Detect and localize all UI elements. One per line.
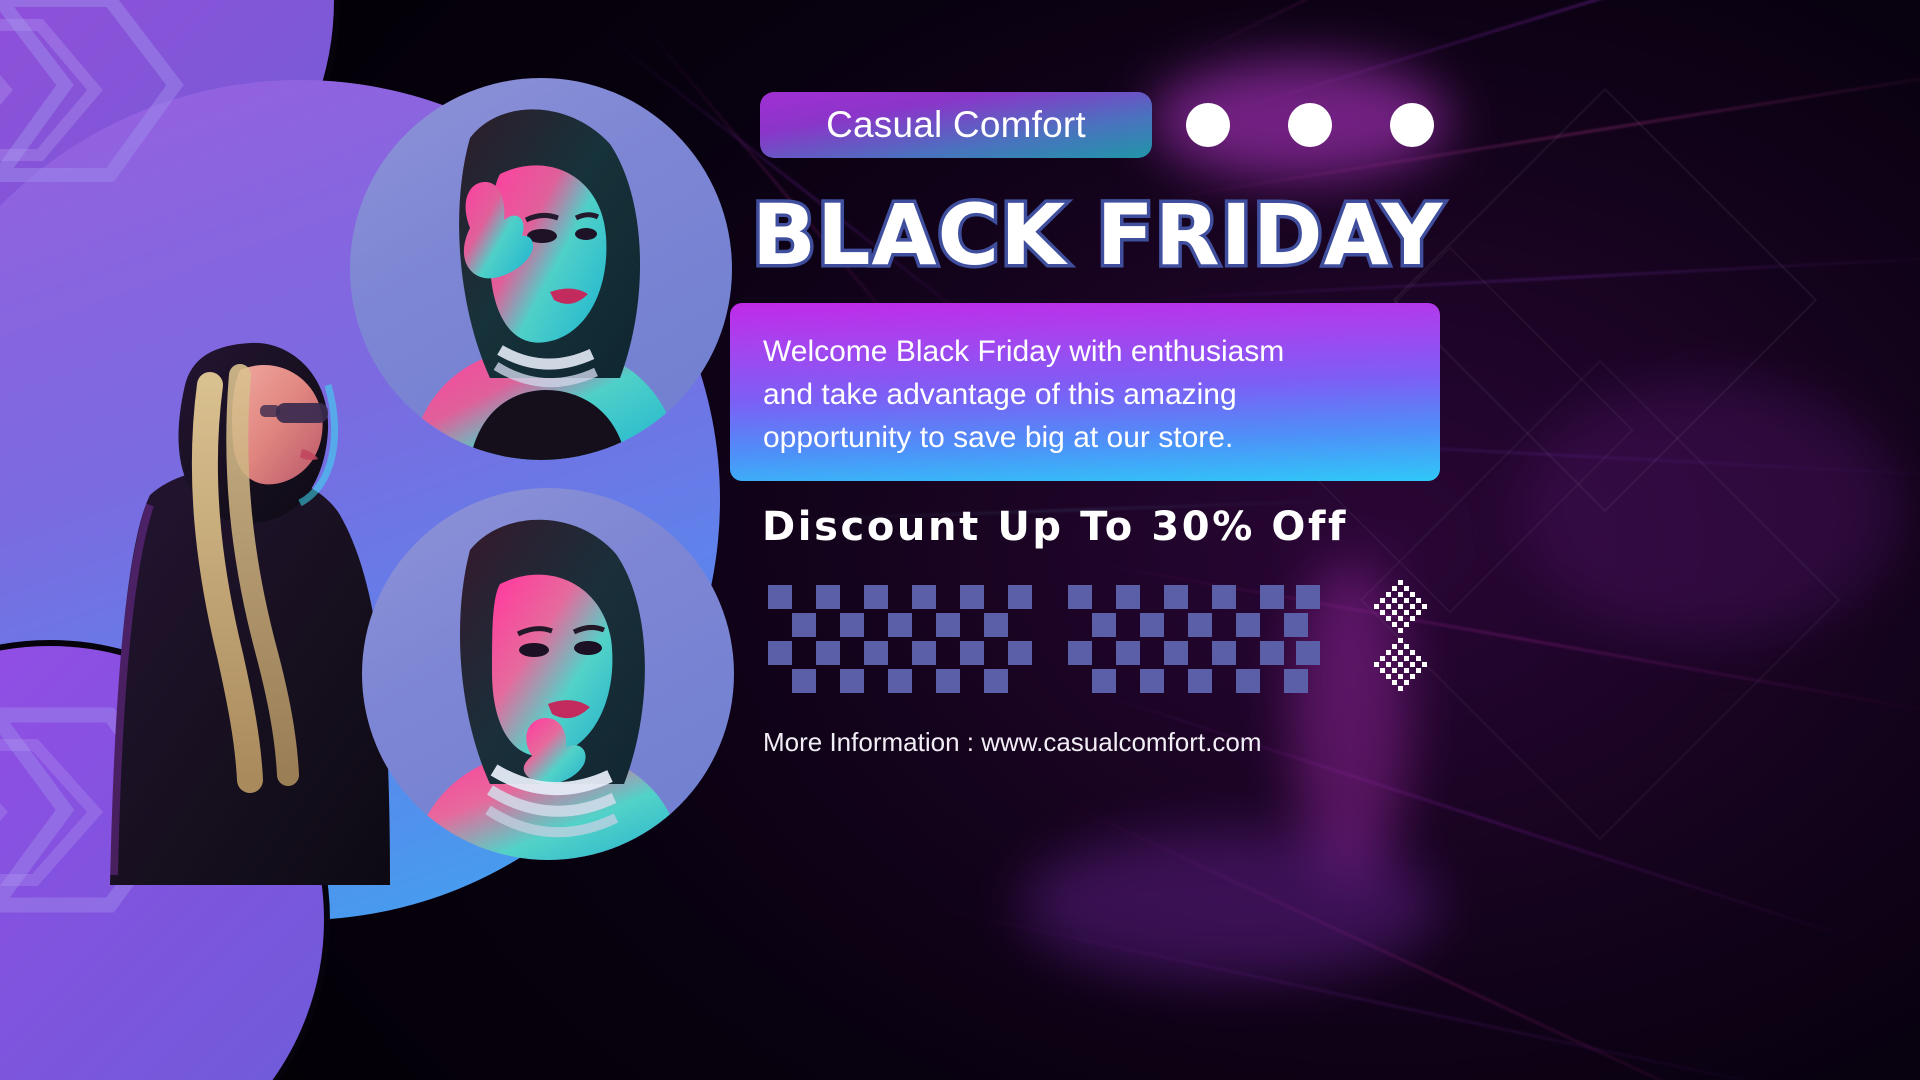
description-line-3: opportunity to save big at our store.: [763, 416, 1403, 459]
decor-dot-3: [1390, 103, 1434, 147]
decor-dot-1: [1186, 103, 1230, 147]
model-photo-circle-top: [350, 78, 732, 460]
page-title: BLACK FRIDAY: [752, 186, 1443, 284]
diamond-dots-decor: [1366, 578, 1436, 694]
brand-badge[interactable]: Casual Comfort: [760, 92, 1152, 158]
decor-dot-2: [1288, 103, 1332, 147]
checkerboard-pattern-right: [1068, 585, 1320, 693]
black-friday-promo-banner: Casual Comfort BLACK FRIDAY Welcome Blac…: [0, 0, 1920, 1080]
chevron-icon-top: [0, 0, 200, 190]
brand-badge-label: Casual Comfort: [826, 104, 1086, 146]
description-line-1: Welcome Black Friday with enthusiasm: [763, 330, 1403, 373]
model-photo-circle-bottom: [362, 488, 734, 860]
more-information-text[interactable]: More Information : www.casualcomfort.com: [763, 727, 1262, 758]
discount-headline: Discount Up To 30% Off: [762, 504, 1348, 550]
description-text: Welcome Black Friday with enthusiasm and…: [763, 330, 1403, 459]
description-line-2: and take advantage of this amazing: [763, 373, 1403, 416]
checkerboard-pattern-left: [768, 585, 1044, 693]
